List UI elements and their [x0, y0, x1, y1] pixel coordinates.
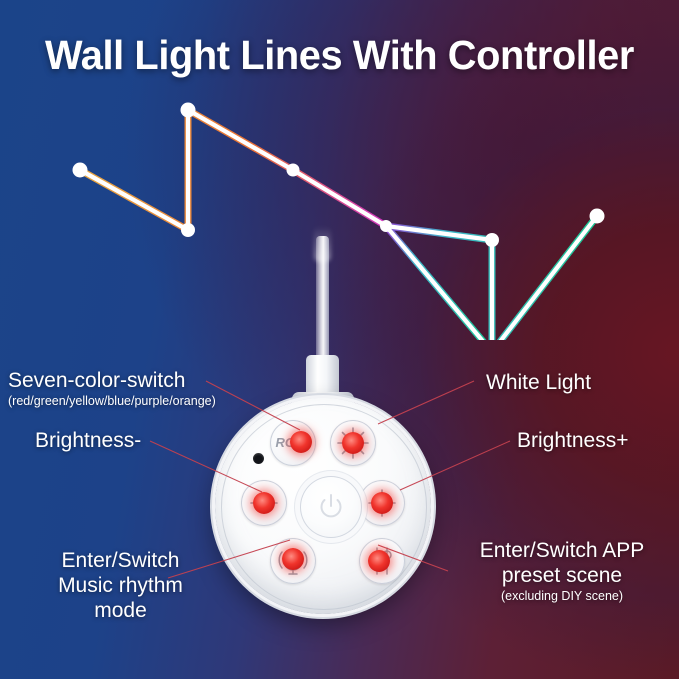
callout-app-scene-line1: Enter/Switch APP	[452, 538, 672, 563]
callout-white-light: White Light	[486, 370, 591, 395]
callout-music-mode-line3: mode	[28, 598, 213, 623]
app-scene-led	[368, 550, 390, 572]
product-infographic: Wall Light Lines With Controller	[0, 0, 679, 679]
callout-music-mode-line1: Enter/Switch	[28, 548, 213, 573]
callout-seven-color-sub: (red/green/yellow/blue/purple/orange)	[8, 393, 216, 409]
rgb-led	[290, 431, 312, 453]
brightness-up-led	[371, 492, 393, 514]
callout-app-scene-sub: (excluding DIY scene)	[452, 588, 672, 604]
callout-app-scene: Enter/Switch APP preset scene (excluding…	[452, 538, 672, 604]
callout-seven-color-title: Seven-color-switch	[8, 368, 216, 393]
callout-brightness-up: Brightness+	[517, 428, 628, 453]
callout-brightness-up-title: Brightness+	[517, 428, 628, 453]
callout-music-mode-line2: Music rhythm	[28, 573, 213, 598]
music-mode-led	[282, 548, 304, 570]
brightness-down-led	[253, 492, 275, 514]
callout-brightness-down: Brightness-	[35, 428, 141, 453]
callout-app-scene-line2: preset scene	[452, 563, 672, 588]
white-light-led	[342, 432, 364, 454]
callout-brightness-down-title: Brightness-	[35, 428, 141, 453]
callout-white-light-title: White Light	[486, 370, 591, 395]
callout-music-mode: Enter/Switch Music rhythm mode	[28, 548, 213, 623]
callout-seven-color: Seven-color-switch (red/green/yellow/blu…	[8, 368, 216, 409]
